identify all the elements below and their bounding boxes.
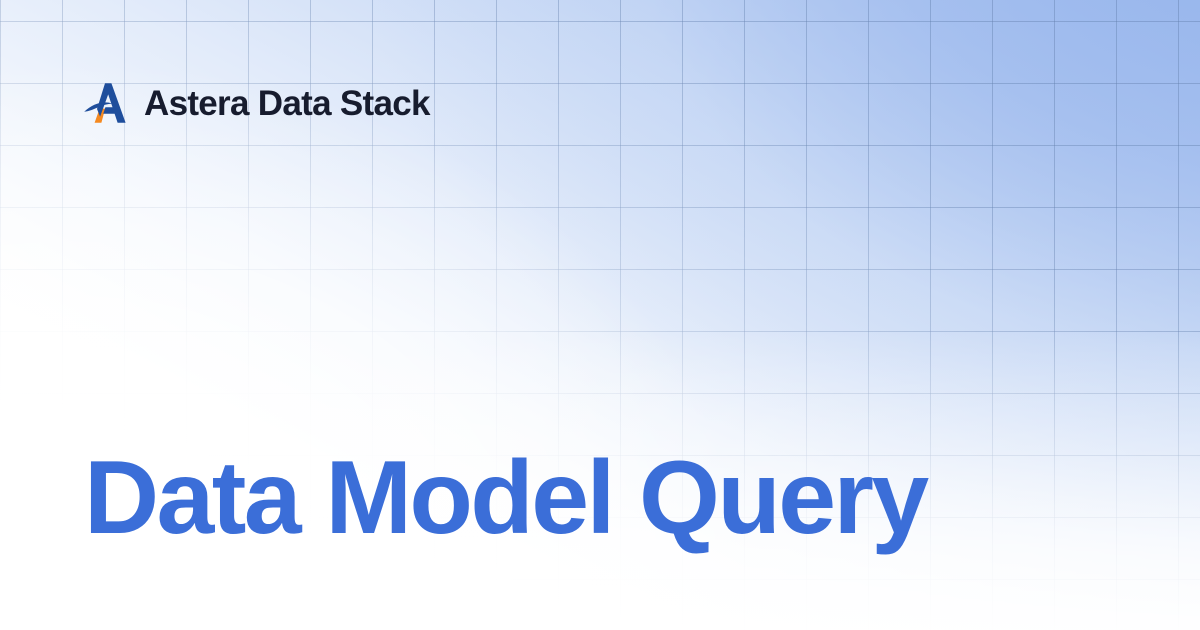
- page-title: Data Model Query: [84, 443, 927, 553]
- brand-name: Astera Data Stack: [144, 86, 430, 121]
- astera-a-logo-icon: [82, 79, 130, 127]
- og-banner: Astera Data Stack Data Model Query: [0, 0, 1200, 630]
- brand-lockup: Astera Data Stack: [82, 79, 430, 127]
